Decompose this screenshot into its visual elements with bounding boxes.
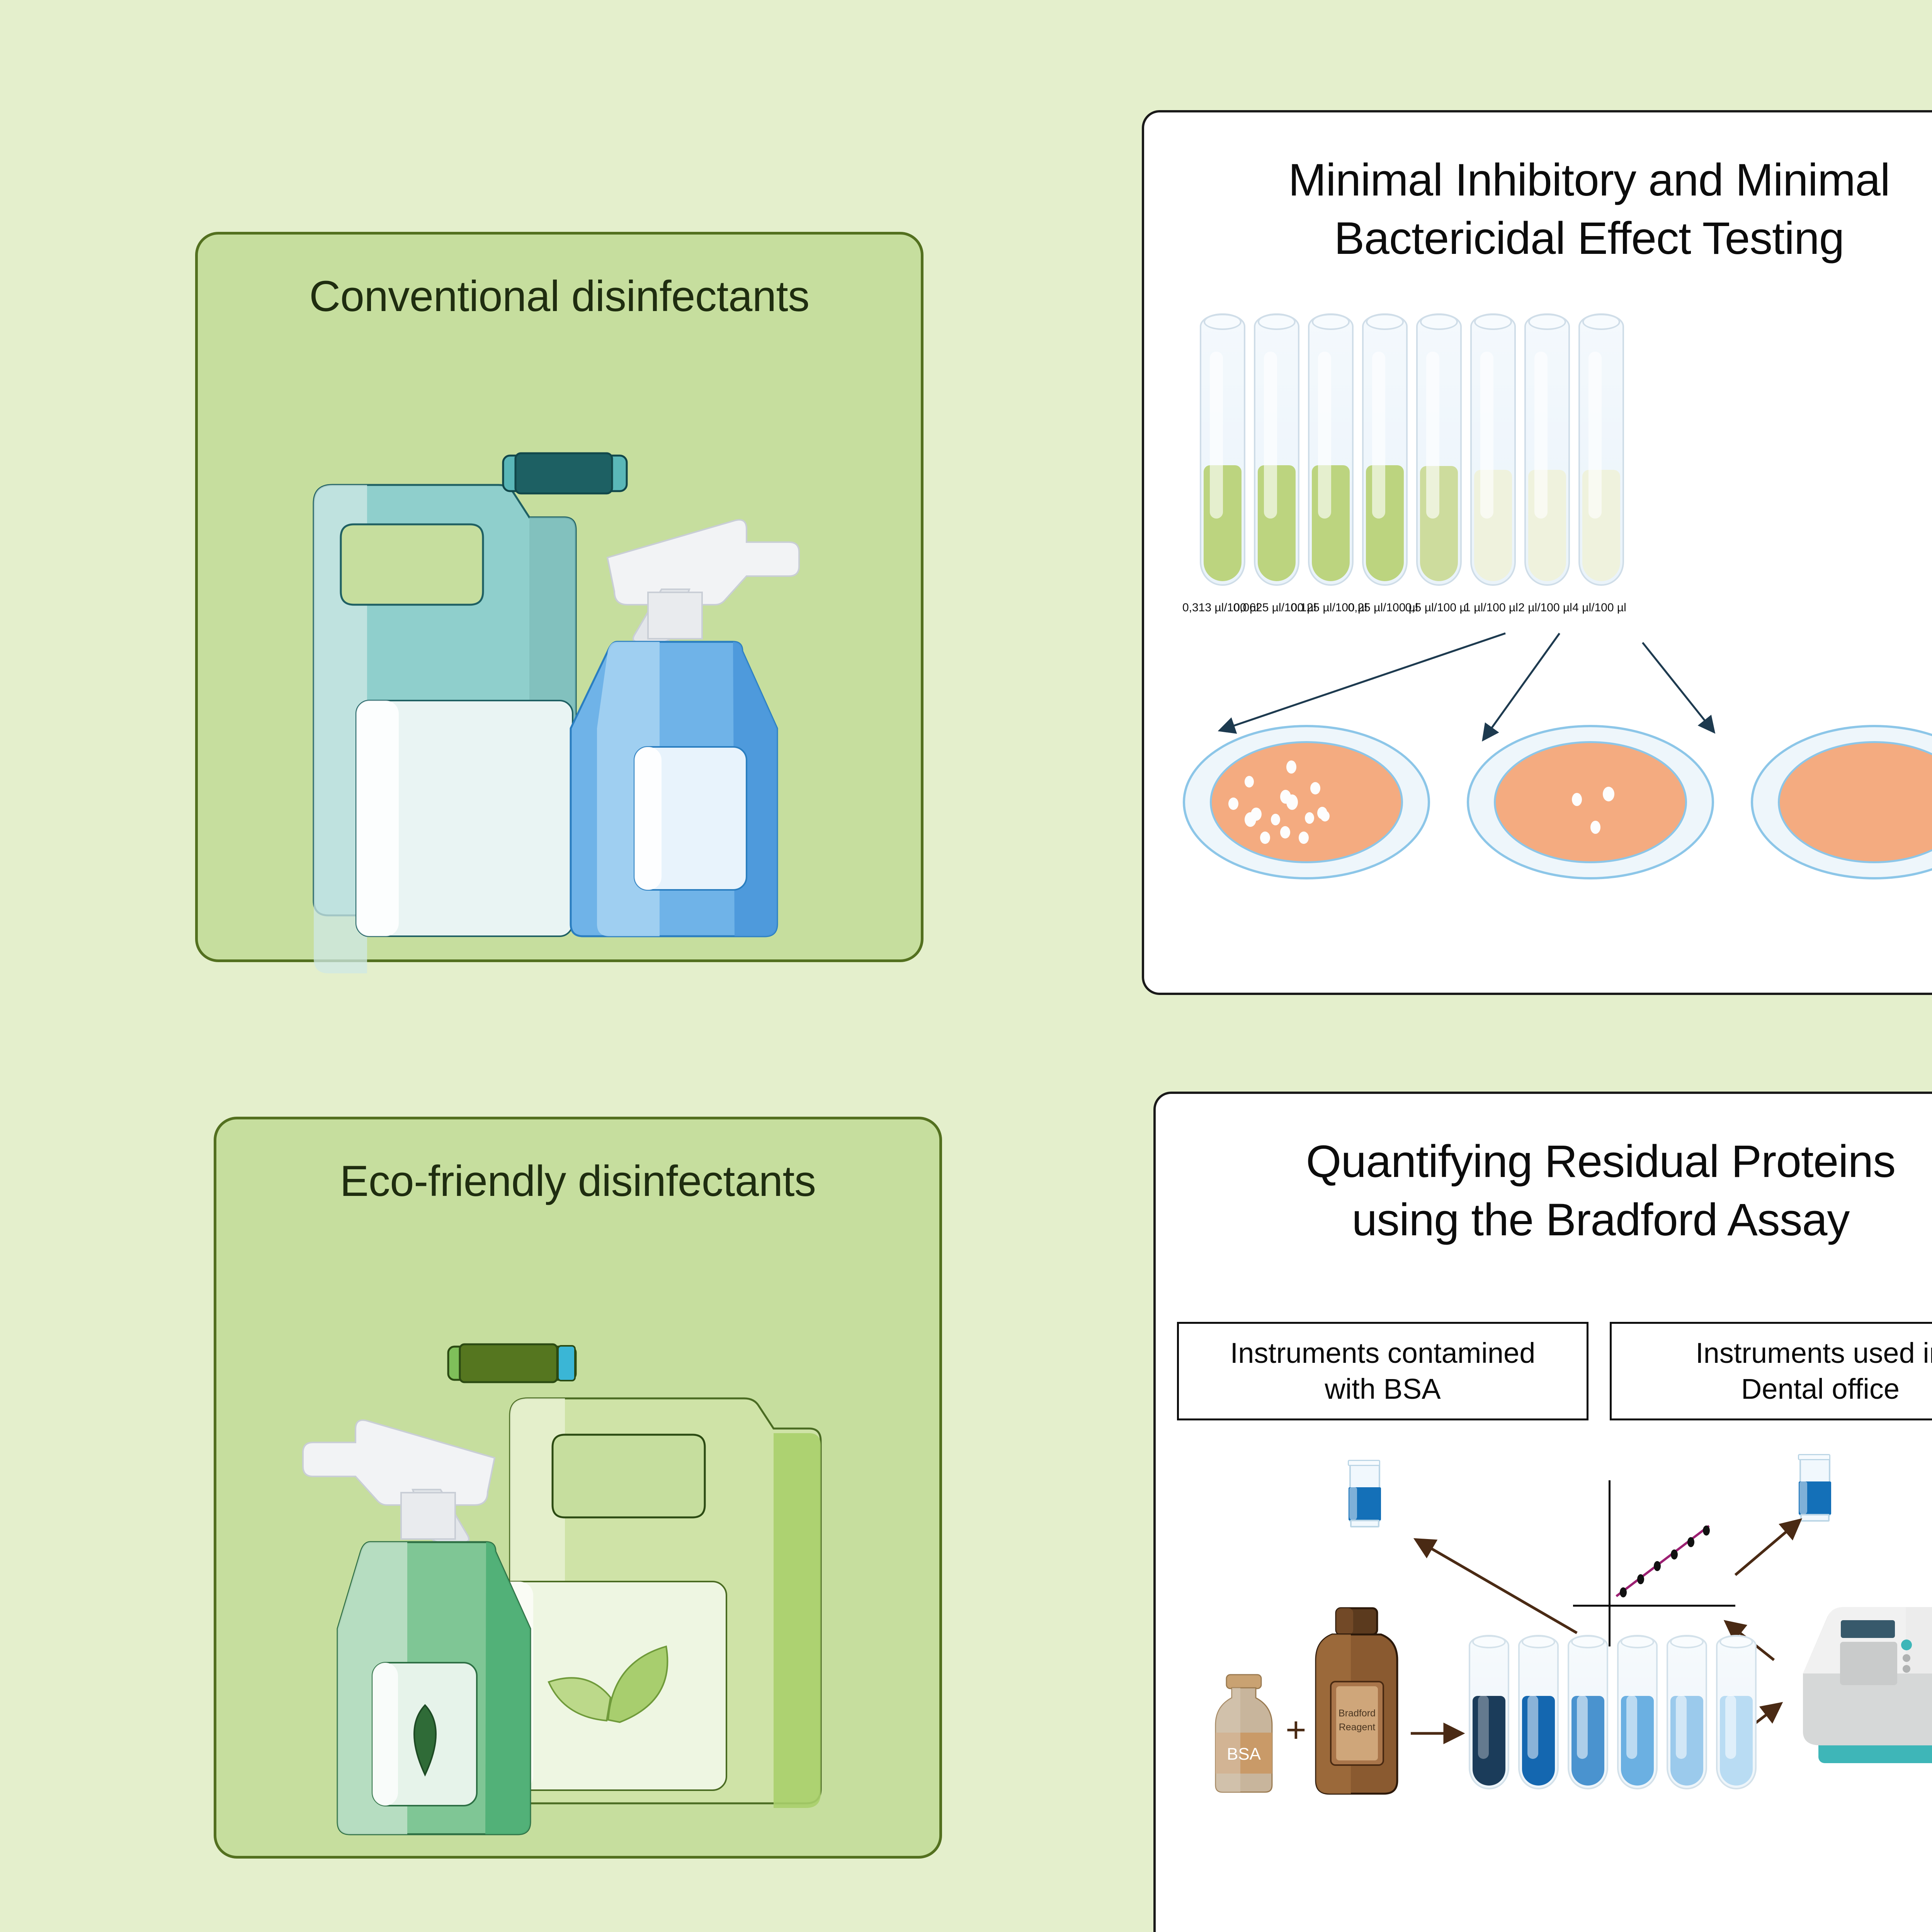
subheader-bsa-line1: Instruments contamined bbox=[1230, 1337, 1536, 1369]
conventional-products-illustration bbox=[198, 391, 921, 936]
mic-test-tube-row: 0,313 µl/100 µl 0,0625 µl/100 µl 0.125 µ… bbox=[1194, 313, 1932, 615]
cuvette-dental-sample bbox=[1797, 1453, 1833, 1521]
mic-test-tube-5 bbox=[1416, 313, 1462, 586]
chart-y-axis bbox=[1609, 1480, 1611, 1646]
subheader-dental-line1: Instruments used in bbox=[1696, 1337, 1932, 1369]
chart-point-5 bbox=[1687, 1537, 1694, 1547]
card-conventional-disinfectants: Conventional disinfectants bbox=[195, 232, 923, 962]
chart-point-6 bbox=[1703, 1526, 1710, 1536]
plus-symbol: + bbox=[1286, 1712, 1306, 1748]
chart-point-2 bbox=[1637, 1574, 1644, 1584]
cuvette-bsa-sample bbox=[1347, 1459, 1383, 1527]
spray-bottle-conventional bbox=[571, 520, 799, 936]
panel-mic-title-line1: Minimal Inhibitory and Minimal bbox=[1288, 155, 1890, 206]
subheader-dental-line2: Dental office bbox=[1741, 1373, 1900, 1405]
eco-products-illustration bbox=[216, 1288, 939, 1833]
bradford-reagent-bottle: Bradford Reagent bbox=[1308, 1606, 1405, 1797]
spectrophotometer bbox=[1791, 1569, 1932, 1786]
petri-dish-row bbox=[1183, 725, 1932, 887]
petri-dish-many-colonies bbox=[1183, 725, 1430, 879]
chart-point-3 bbox=[1654, 1561, 1661, 1571]
mic-test-tube-1 bbox=[1200, 313, 1245, 586]
chart-x-axis bbox=[1573, 1605, 1735, 1607]
arrow-chart-to-dental-cuvette bbox=[1735, 1521, 1799, 1575]
panel-bradford-title-line1: Quantifying Residual Proteins bbox=[1306, 1136, 1896, 1187]
mic-test-tube-8 bbox=[1578, 313, 1624, 586]
subheader-instruments-contamined-bsa: Instruments contamined with BSA bbox=[1177, 1322, 1588, 1420]
chart-point-4 bbox=[1671, 1549, 1678, 1560]
panel-bradford-title-line2: using the Bradford Assay bbox=[1352, 1194, 1850, 1245]
reagent-label-line1: Bradford bbox=[1338, 1708, 1376, 1719]
arrow-chart-to-bsa-cuvette bbox=[1417, 1540, 1577, 1633]
reagent-label-line2: Reagent bbox=[1339, 1722, 1376, 1733]
panel-mic-mbc-testing: Minimal Inhibitory and Minimal Bacterici… bbox=[1142, 110, 1932, 995]
mic-test-tube-6 bbox=[1470, 313, 1516, 586]
bradford-gradient-tube-row bbox=[1469, 1635, 1778, 1797]
mic-test-tube-7 bbox=[1524, 313, 1570, 586]
card-eco-friendly-disinfectants: Eco-friendly disinfectants bbox=[214, 1117, 942, 1859]
mic-tube-label-8: 4 µl/100 µl bbox=[1553, 601, 1646, 614]
chart-plot-area bbox=[1573, 1480, 1735, 1646]
subheader-bsa-line2: with BSA bbox=[1325, 1373, 1440, 1405]
panel-mic-title: Minimal Inhibitory and Minimal Bacterici… bbox=[1171, 151, 1932, 268]
bradford-tube-2 bbox=[1518, 1635, 1559, 1789]
bsa-bottle-label: BSA bbox=[1227, 1745, 1261, 1764]
graphical-abstract: Conventional disinfectants bbox=[0, 0, 1932, 1932]
bradford-tube-5 bbox=[1667, 1635, 1707, 1789]
petri-dish-no-colonies bbox=[1751, 725, 1932, 879]
arrow-tube6-to-dish1 bbox=[1221, 633, 1505, 730]
bradford-tube-6 bbox=[1716, 1635, 1757, 1789]
card-conventional-title: Conventional disinfectants bbox=[198, 271, 921, 321]
spray-bottle-eco bbox=[303, 1420, 530, 1834]
mic-test-tube-4 bbox=[1362, 313, 1408, 586]
panel-mic-title-line2: Bactericidal Effect Testing bbox=[1334, 213, 1844, 264]
bradford-tube-3 bbox=[1568, 1635, 1608, 1789]
subheader-instruments-dental-office: Instruments used in Dental office bbox=[1610, 1322, 1932, 1420]
mic-test-tube-3 bbox=[1308, 313, 1354, 586]
chart-trendline bbox=[1616, 1526, 1709, 1596]
bradford-tube-4 bbox=[1617, 1635, 1658, 1789]
bradford-tube-1 bbox=[1469, 1635, 1509, 1789]
card-eco-title: Eco-friendly disinfectants bbox=[216, 1156, 939, 1206]
petri-dish-few-colonies bbox=[1467, 725, 1714, 879]
bradford-standard-curve-chart bbox=[1573, 1480, 1735, 1646]
panel-bradford-title: Quantifying Residual Proteins using the … bbox=[1183, 1133, 1932, 1249]
panel-bradford-assay: Quantifying Residual Proteins using the … bbox=[1153, 1092, 1932, 1932]
arrow-tube8-to-dish3 bbox=[1643, 643, 1713, 731]
chart-point-1 bbox=[1620, 1587, 1627, 1597]
mic-test-tube-2 bbox=[1254, 313, 1299, 586]
arrow-tube7-to-dish2 bbox=[1484, 633, 1560, 738]
bsa-bottle: BSA bbox=[1204, 1672, 1283, 1795]
